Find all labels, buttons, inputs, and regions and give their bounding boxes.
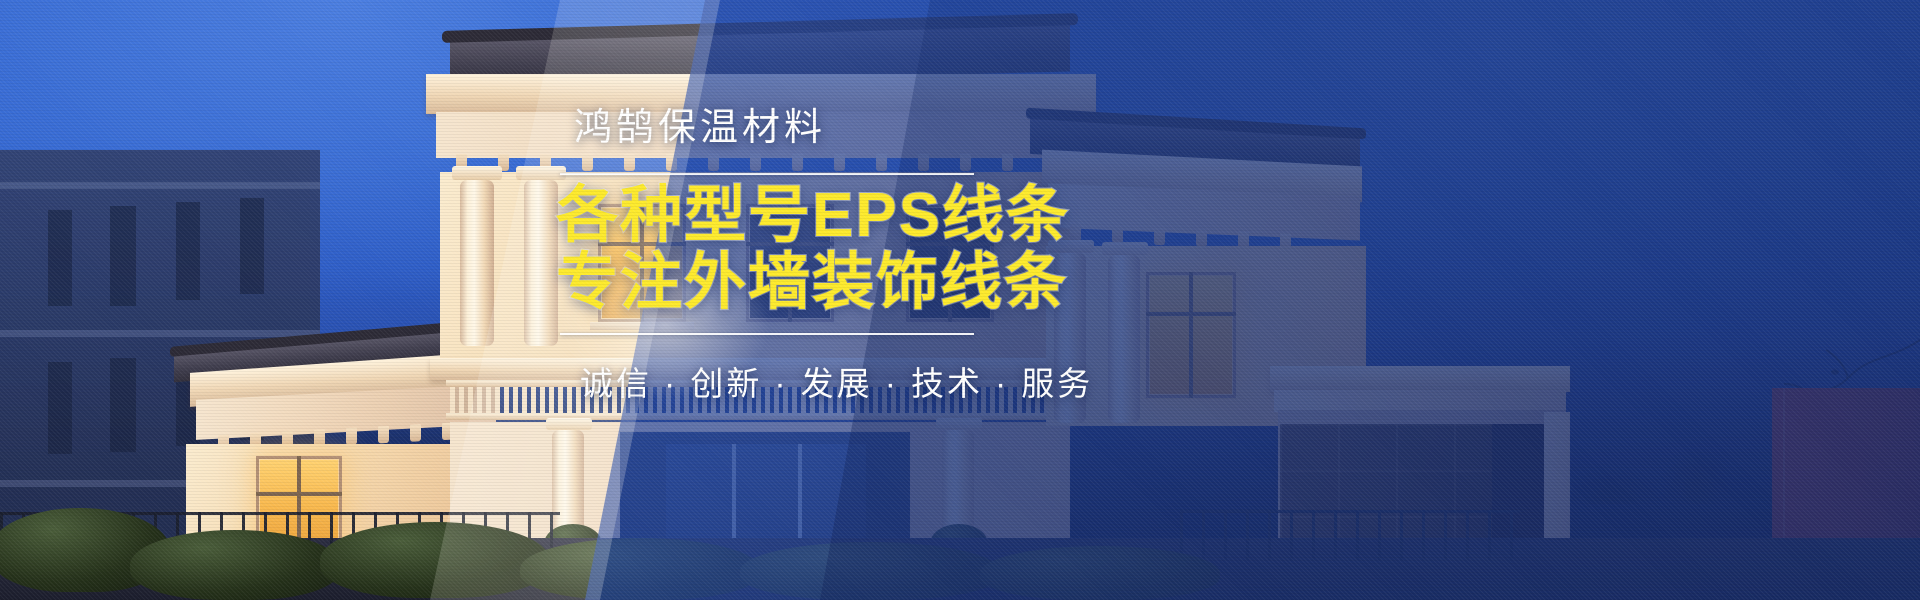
- tagline: 诚信 · 创新 · 发展 · 技术 · 服务: [556, 357, 1496, 405]
- banner-text-block: 鸿鹄保温材料 各种型号EPS线条 专注外墙装饰线条 诚信 · 创新 · 发展 ·…: [556, 96, 1496, 405]
- divider-upper: [560, 173, 974, 175]
- left-wing-window-mullion-h: [256, 492, 342, 496]
- headline: 各种型号EPS线条 专注外墙装饰线条: [556, 183, 1496, 317]
- headline-line-1: 各种型号EPS线条: [556, 183, 1496, 250]
- hero-banner: 鸿鹄保温材料 各种型号EPS线条 专注外墙装饰线条 诚信 · 创新 · 发展 ·…: [0, 0, 1920, 600]
- divider-lower: [560, 333, 974, 335]
- brand-title: 鸿鹄保温材料: [556, 96, 1496, 151]
- center-column-cap-1: [452, 166, 502, 180]
- headline-line-2: 专注外墙装饰线条: [556, 250, 1496, 317]
- center-column-1: [460, 180, 494, 346]
- foreground-shrub-2: [130, 530, 340, 600]
